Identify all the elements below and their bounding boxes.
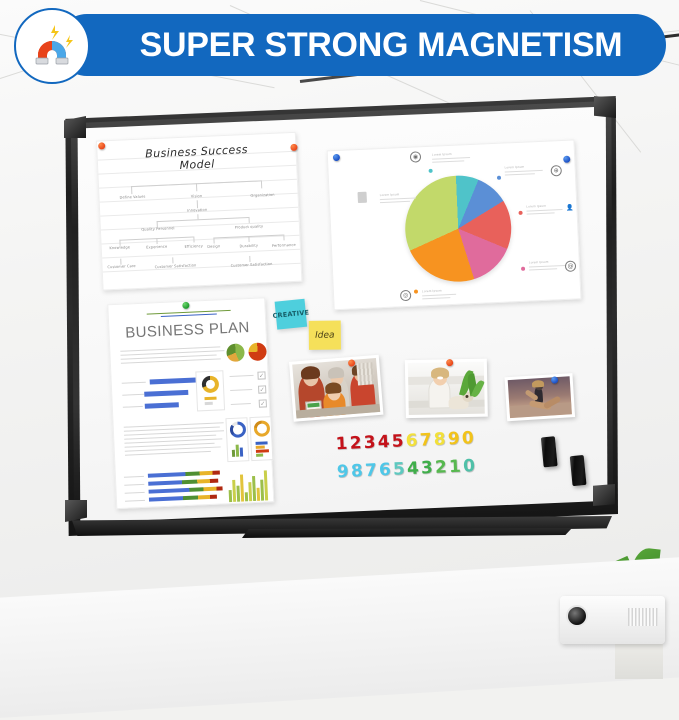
fitness-sunset-photo[interactable] bbox=[505, 373, 576, 421]
at-sign-icon: @ bbox=[565, 260, 576, 271]
pie-caption: Lorem Ipsum bbox=[432, 151, 472, 157]
product-marketing-image: SUPER STRONG MAGNETISM bbox=[0, 0, 679, 679]
node-customer-satisfaction: Customer Satisfaction bbox=[231, 262, 269, 268]
stat-panel bbox=[249, 416, 273, 461]
sticky-note-creative[interactable]: CREATIVE bbox=[275, 299, 308, 330]
magnetic-numbers-bottom-row[interactable]: 9876543210 bbox=[337, 456, 478, 482]
magnet-badge bbox=[14, 8, 90, 84]
check-box-icon: ✓ bbox=[259, 399, 267, 407]
stat-panel bbox=[195, 370, 225, 411]
business-success-model-note[interactable]: Business Success Model Define Values Vis… bbox=[96, 132, 302, 291]
pie-chart-poster[interactable]: Lorem Ipsum ◉ Lorem Ipsum ⊕ Lorem Ipsum bbox=[327, 139, 582, 310]
node-vision: Vision bbox=[176, 193, 216, 199]
document-title: BUSINESS PLAN bbox=[109, 318, 266, 342]
node-quality-personnel: Quality Personnel bbox=[133, 226, 183, 232]
projector-vent bbox=[628, 608, 658, 626]
person-icon: 👤 bbox=[564, 202, 575, 213]
frame-corner bbox=[593, 484, 615, 506]
location-pin-icon: ◉ bbox=[410, 151, 421, 162]
note-title: Business Success Model bbox=[97, 141, 296, 176]
document-icon bbox=[358, 192, 367, 203]
legend-dot bbox=[429, 169, 433, 173]
sticky-note-idea[interactable]: Idea bbox=[309, 321, 341, 350]
target-icon: ◎ bbox=[400, 290, 411, 301]
mini-pie-chart bbox=[226, 343, 245, 362]
globe-icon: ⊕ bbox=[551, 165, 562, 176]
node-product-quality: Product quality bbox=[225, 224, 273, 230]
mini-pie-chart bbox=[248, 342, 267, 361]
bar bbox=[145, 402, 179, 409]
headline-banner: SUPER STRONG MAGNETISM bbox=[56, 14, 666, 76]
family-photo[interactable] bbox=[289, 355, 383, 422]
business-plan-document[interactable]: BUSINESS PLAN bbox=[107, 297, 274, 509]
child-with-dog-photo[interactable] bbox=[405, 359, 488, 418]
legend-dot bbox=[521, 267, 525, 271]
headline-text: SUPER STRONG MAGNETISM bbox=[100, 26, 623, 65]
pie-caption: Lorem Ipsum bbox=[529, 259, 569, 265]
magnetic-whiteboard[interactable]: Business Success Model Define Values Vis… bbox=[62, 96, 618, 536]
legend-dot bbox=[414, 290, 418, 294]
magnet-bar[interactable] bbox=[541, 436, 558, 467]
node-customer-care: Customer Care bbox=[105, 264, 139, 270]
node-durability: Durability bbox=[234, 243, 264, 248]
pie-chart bbox=[403, 173, 514, 284]
pie-caption: Lorem Ipsum bbox=[380, 191, 420, 197]
magnet-bar[interactable] bbox=[570, 455, 587, 486]
check-box-icon: ✓ bbox=[257, 371, 265, 379]
node-experience: Experience bbox=[142, 244, 172, 249]
pie-caption: Lorem Ipsum bbox=[422, 288, 462, 294]
pie-caption: Lorem Ipsum bbox=[526, 203, 566, 209]
bar bbox=[144, 390, 188, 397]
column-chart bbox=[226, 464, 274, 502]
horseshoe-magnet-icon bbox=[25, 19, 79, 73]
pie-caption: Lorem Ipsum bbox=[504, 164, 544, 170]
node-organization: Organization bbox=[239, 192, 285, 198]
stat-panel bbox=[225, 417, 249, 462]
magnetic-numbers-top-row[interactable]: 1234567890 bbox=[335, 428, 476, 454]
frame-corner bbox=[594, 96, 616, 118]
projector-lens bbox=[566, 605, 588, 627]
white-projector bbox=[560, 596, 665, 644]
node-design: Design bbox=[200, 244, 228, 249]
node-knowledge: Knowledge bbox=[105, 245, 135, 250]
bar bbox=[150, 377, 202, 384]
legend-dot bbox=[519, 211, 523, 215]
board-content-plane: Business Success Model Define Values Vis… bbox=[52, 84, 627, 548]
node-innovation: Innovation bbox=[177, 207, 217, 213]
node-performance: Performance bbox=[268, 243, 300, 248]
check-box-icon: ✓ bbox=[258, 385, 266, 393]
legend-dot bbox=[497, 176, 501, 180]
